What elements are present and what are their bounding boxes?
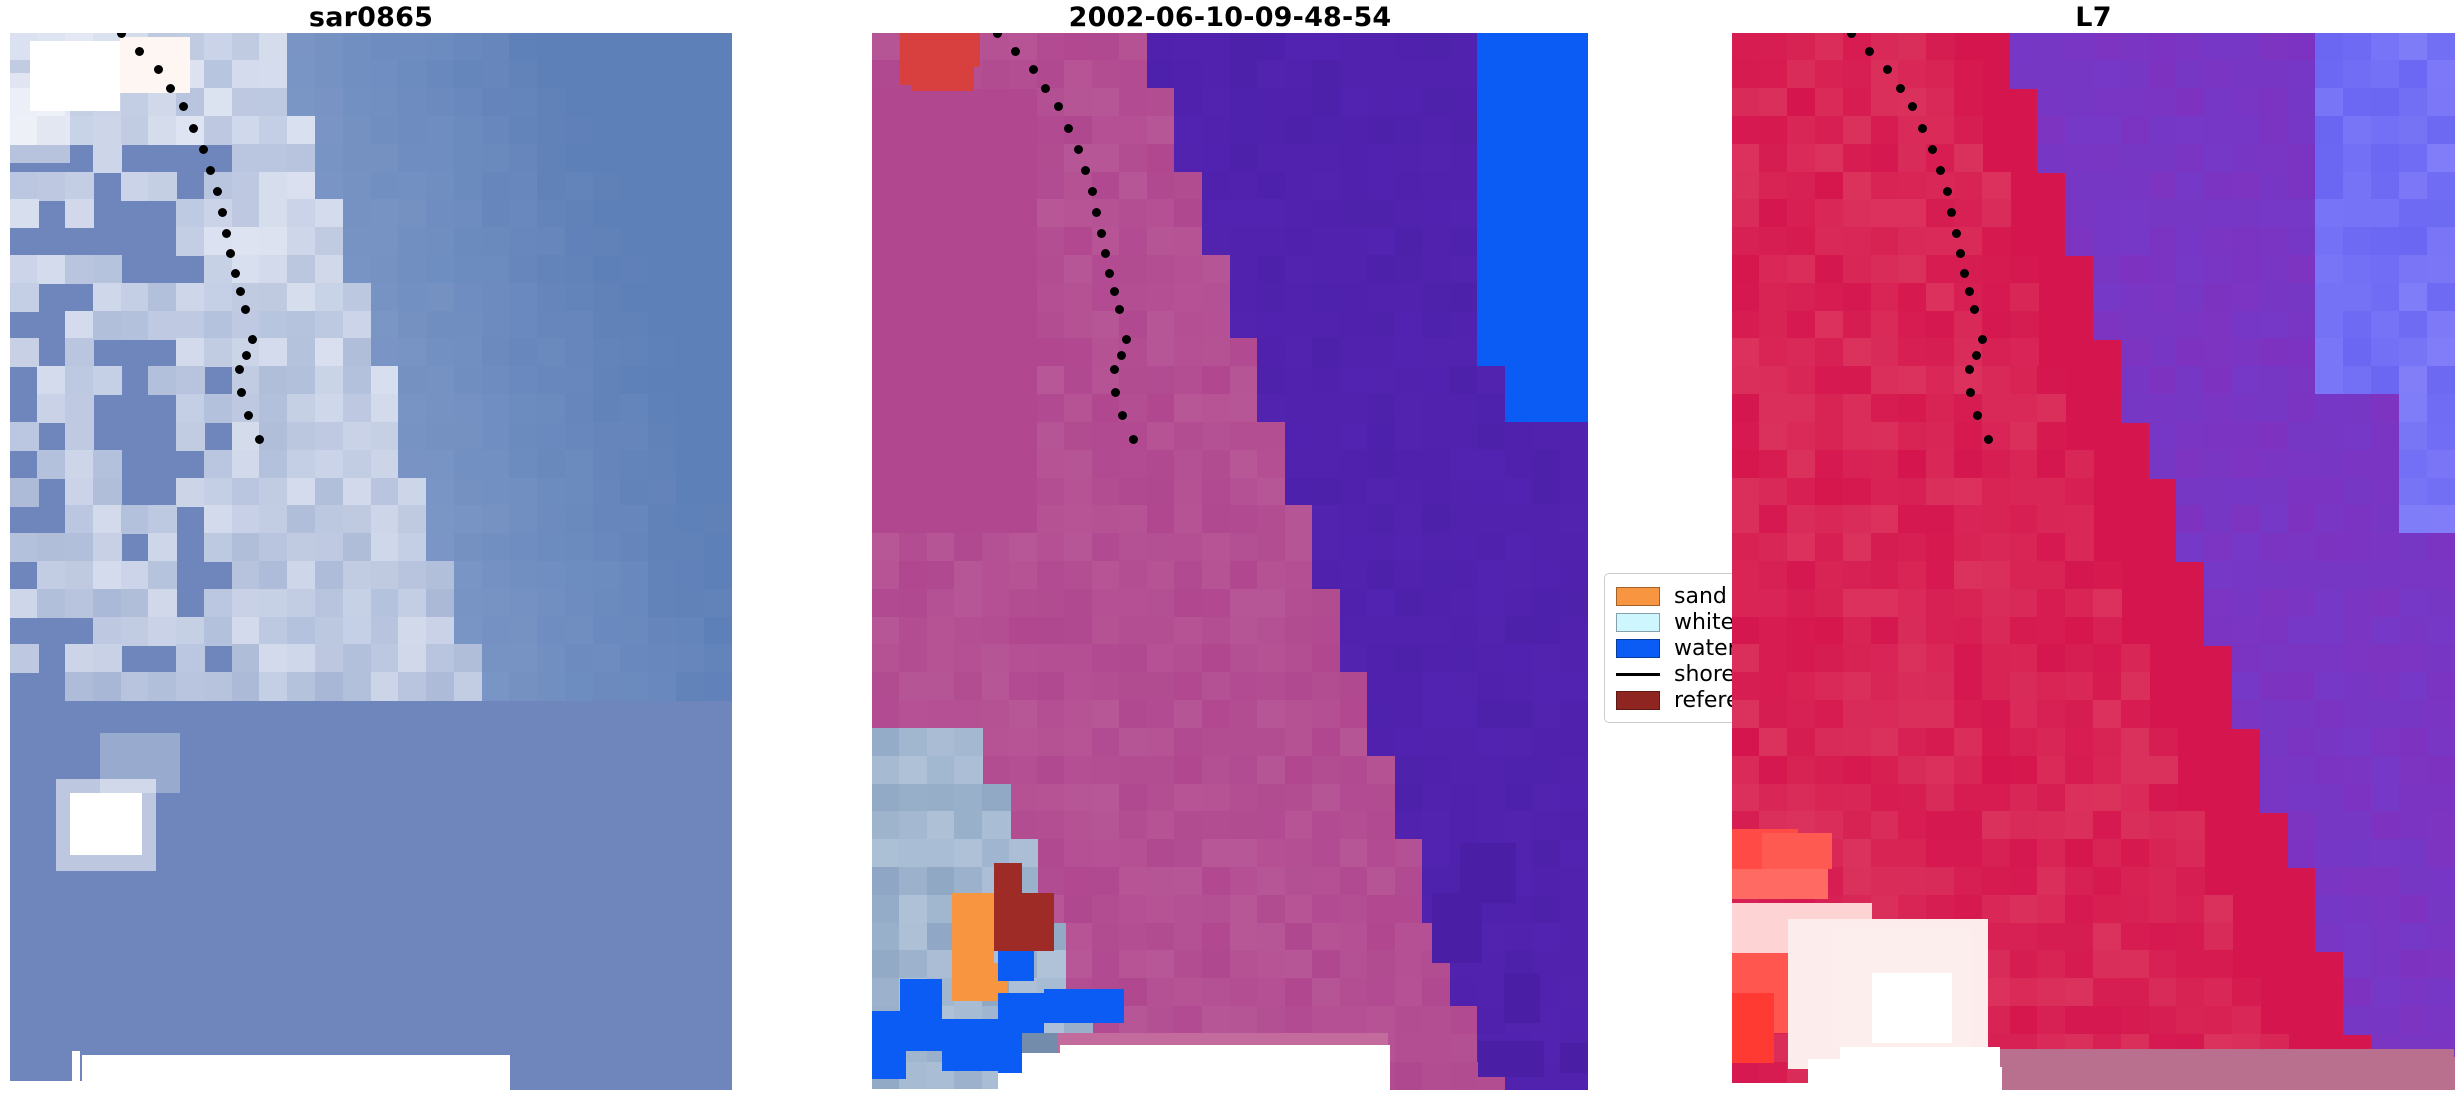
image-pixel [1119, 923, 1148, 952]
image-pixel [565, 366, 594, 395]
image-pixel [1312, 950, 1341, 979]
image-pixel [343, 88, 372, 117]
image-pixel [704, 422, 732, 451]
image-pixel [1395, 60, 1424, 89]
image-pixel [398, 978, 427, 1007]
image-pixel [2065, 450, 2094, 479]
image-pixel [37, 950, 66, 979]
image-pixel [2093, 366, 2122, 395]
image-pixel [1147, 867, 1176, 896]
image-pixel [1174, 978, 1203, 1007]
image-pixel [204, 33, 233, 62]
image-pixel [509, 60, 538, 89]
image-pixel [1787, 533, 1816, 562]
image-pixel [343, 60, 372, 89]
image-pixel [1532, 116, 1561, 145]
image-pixel [1926, 784, 1955, 813]
image-pixel [1787, 394, 1816, 423]
image-pixel [2399, 450, 2428, 479]
image-pixel [232, 450, 261, 479]
image-pixel [2260, 811, 2289, 840]
image-pixel [426, 950, 455, 979]
image-pixel [426, 644, 455, 673]
image-pixel [1815, 505, 1844, 534]
image-pixel [204, 394, 233, 423]
image-pixel [1871, 672, 1900, 701]
image-pixel [2176, 700, 2205, 729]
image-pixel [2288, 116, 2317, 145]
image-pixel [259, 366, 288, 395]
image-pixel [648, 255, 677, 284]
image-pixel [10, 422, 39, 451]
image-pixel [565, 172, 594, 201]
image-pixel [371, 617, 400, 646]
image-pixel [2288, 867, 2317, 896]
image-pixel [2121, 561, 2150, 590]
image-pixel [565, 756, 594, 785]
image-pixel [899, 422, 928, 451]
image-pixel [482, 505, 511, 534]
image-pixel [259, 116, 288, 145]
image-pixel [1312, 672, 1341, 701]
image-pixel [204, 116, 233, 145]
image-pixel [176, 978, 205, 1007]
image-pixel [2149, 450, 2178, 479]
image-pixel [232, 88, 261, 117]
image-pixel [2176, 60, 2205, 89]
image-pixel [2427, 283, 2455, 312]
image-pixel [2037, 728, 2066, 757]
image-pixel [1532, 478, 1561, 507]
image-pixel [1898, 784, 1927, 813]
image-pixel [148, 505, 177, 534]
image-pixel [454, 311, 483, 340]
image-pixel [1092, 756, 1121, 785]
image-pixel [2315, 1006, 2344, 1035]
shoreline-dot [218, 208, 227, 217]
image-pixel [2343, 923, 2372, 952]
image-pixel [1257, 589, 1286, 618]
image-pixel [2343, 33, 2372, 62]
image-pixel [426, 756, 455, 785]
image-pixel [2121, 199, 2150, 228]
image-pixel [1285, 672, 1314, 701]
image-pixel [2315, 255, 2344, 284]
image-pixel [1843, 728, 1872, 757]
image-pixel [676, 505, 705, 534]
image-pixel [315, 338, 344, 367]
image-pixel [1202, 116, 1231, 145]
image-pixel [259, 728, 288, 757]
image-pixel [1982, 33, 2011, 62]
image-pixel [65, 478, 94, 507]
image-pixel [2343, 811, 2372, 840]
image-pixel [2371, 144, 2400, 173]
image-pixel [2315, 867, 2344, 896]
image-pixel [2176, 950, 2205, 979]
image-pixel [927, 728, 956, 757]
image-pixel [2371, 478, 2400, 507]
image-pixel [1202, 561, 1231, 590]
image-pixel [1759, 700, 1788, 729]
image-pixel [2149, 867, 2178, 896]
image-pixel [398, 1006, 427, 1035]
image-pixel [93, 283, 122, 312]
image-pixel [2093, 255, 2122, 284]
image-pixel [1477, 1006, 1506, 1035]
image-pixel [1064, 505, 1093, 534]
image-pixel [371, 144, 400, 173]
image-pixel [954, 728, 983, 757]
image-pixel [1312, 617, 1341, 646]
image-pixel [1174, 672, 1203, 701]
image-pixel [1119, 450, 1148, 479]
image-pixel [1367, 144, 1396, 173]
image-pixel [1926, 478, 1955, 507]
image-pixel [2399, 227, 2428, 256]
image-pixel [315, 923, 344, 952]
image-pixel [648, 784, 677, 813]
image-pixel [2065, 756, 2094, 785]
image-pixel [2427, 478, 2455, 507]
image-pixel [1898, 811, 1927, 840]
image-pixel [1532, 505, 1561, 534]
image-pixel [1395, 88, 1424, 117]
image-pixel [899, 505, 928, 534]
image-pixel [1257, 172, 1286, 201]
image-pixel [343, 811, 372, 840]
image-pixel [2315, 366, 2344, 395]
image-pixel [148, 311, 177, 340]
image-pixel [232, 867, 261, 896]
image-pixel [2121, 839, 2150, 868]
image-pixel [2399, 923, 2428, 952]
image-pixel [1340, 88, 1369, 117]
image-pixel [872, 394, 901, 423]
image-pixel [1009, 227, 1038, 256]
image-pixel [1560, 1043, 1588, 1073]
image-pixel [1367, 227, 1396, 256]
image-pixel [1202, 394, 1231, 423]
image-pixel [982, 756, 1011, 785]
image-pixel [648, 60, 677, 89]
image-pixel [2093, 505, 2122, 534]
image-pixel [398, 644, 427, 673]
image-pixel [1450, 60, 1479, 89]
image-pixel [1505, 227, 1534, 256]
image-pixel [620, 533, 649, 562]
image-pixel [565, 644, 594, 673]
image-pixel [259, 283, 288, 312]
image-pixel [1037, 338, 1066, 367]
image-pixel [100, 733, 180, 793]
image-pixel [1119, 116, 1148, 145]
image-pixel [1395, 199, 1424, 228]
image-pixel [1340, 478, 1369, 507]
image-pixel [1230, 784, 1259, 813]
image-pixel [872, 366, 901, 395]
image-pixel [2093, 311, 2122, 340]
image-pixel [1560, 728, 1588, 757]
image-pixel [287, 394, 316, 423]
image-pixel [2427, 978, 2455, 1007]
image-pixel [2093, 700, 2122, 729]
image-pixel [927, 644, 956, 673]
image-pixel [1560, 700, 1588, 729]
image-pixel [1759, 227, 1788, 256]
image-pixel [1477, 311, 1506, 340]
image-pixel [620, 1006, 649, 1035]
image-pixel [1064, 756, 1093, 785]
image-pixel [1285, 644, 1314, 673]
image-pixel [1843, 505, 1872, 534]
image-pixel [65, 255, 94, 284]
image-pixel [482, 88, 511, 117]
image-pixel [2037, 561, 2066, 590]
image-pixel [1395, 338, 1424, 367]
image-pixel [676, 255, 705, 284]
image-pixel [1532, 366, 1561, 395]
image-pixel [1202, 88, 1231, 117]
image-pixel [1843, 88, 1872, 117]
image-pixel [1147, 366, 1176, 395]
image-pixel [704, 756, 732, 785]
image-pixel [2427, 950, 2455, 979]
image-pixel [2204, 1006, 2233, 1035]
image-pixel [1092, 867, 1121, 896]
image-pixel [1367, 867, 1396, 896]
image-pixel [1898, 505, 1927, 534]
image-pixel [1257, 923, 1286, 952]
image-pixel [1422, 422, 1451, 451]
panel-classified-image [872, 33, 1588, 1090]
image-pixel [2371, 311, 2400, 340]
image-pixel [872, 756, 901, 785]
image-pixel [2343, 366, 2372, 395]
image-pixel [121, 923, 150, 952]
image-pixel [426, 923, 455, 952]
image-pixel [1037, 478, 1066, 507]
image-pixel [2315, 617, 2344, 646]
image-pixel [2010, 700, 2039, 729]
image-pixel [704, 227, 732, 256]
image-pixel [982, 311, 1011, 340]
image-pixel [1257, 366, 1286, 395]
image-pixel [2176, 116, 2205, 145]
image-pixel [2010, 33, 2039, 62]
image-pixel [994, 863, 1022, 893]
image-pixel [899, 478, 928, 507]
image-pixel [2176, 478, 2205, 507]
image-pixel [899, 338, 928, 367]
image-pixel [2371, 644, 2400, 673]
image-pixel [2260, 227, 2289, 256]
image-pixel [1174, 867, 1203, 896]
image-pixel [1147, 338, 1176, 367]
image-pixel [1367, 923, 1396, 952]
image-pixel [2204, 116, 2233, 145]
image-pixel [1257, 700, 1286, 729]
image-pixel [343, 1006, 372, 1035]
image-pixel [565, 227, 594, 256]
image-pixel [648, 366, 677, 395]
image-pixel [398, 394, 427, 423]
image-pixel [121, 867, 150, 896]
image-pixel [1064, 561, 1093, 590]
image-pixel [93, 172, 122, 201]
image-pixel [954, 756, 983, 785]
image-pixel [2149, 227, 2178, 256]
image-pixel [509, 978, 538, 1007]
image-pixel [1340, 144, 1369, 173]
image-pixel [899, 811, 928, 840]
image-pixel [2093, 923, 2122, 952]
image-pixel [676, 923, 705, 952]
image-pixel [1064, 227, 1093, 256]
image-pixel [2037, 116, 2066, 145]
image-pixel [1843, 283, 1872, 312]
image-pixel [454, 422, 483, 451]
image-pixel [1119, 227, 1148, 256]
image-pixel [1009, 561, 1038, 590]
image-pixel [1815, 394, 1844, 423]
shoreline-dot [1064, 124, 1073, 133]
image-pixel [1732, 784, 1761, 813]
image-pixel [287, 1006, 316, 1035]
image-pixel [2399, 478, 2428, 507]
image-pixel [1926, 561, 1955, 590]
image-pixel [954, 199, 983, 228]
image-pixel [2399, 505, 2428, 534]
image-pixel [1367, 839, 1396, 868]
image-pixel [1450, 227, 1479, 256]
image-pixel [2343, 227, 2372, 256]
image-pixel [1477, 450, 1506, 479]
image-pixel [1759, 33, 1788, 62]
image-pixel [1954, 88, 1983, 117]
image-pixel [537, 505, 566, 534]
image-pixel [1560, 450, 1588, 479]
image-pixel [872, 1089, 1062, 1090]
image-pixel [371, 950, 400, 979]
image-pixel [371, 88, 400, 117]
image-pixel [1147, 561, 1176, 590]
image-pixel [2315, 199, 2344, 228]
image-pixel [65, 199, 94, 228]
image-pixel [2121, 811, 2150, 840]
image-pixel [287, 700, 316, 729]
image-pixel [1871, 450, 1900, 479]
image-pixel [343, 728, 372, 757]
image-pixel [2343, 867, 2372, 896]
image-pixel [426, 88, 455, 117]
shoreline-dot [235, 365, 244, 374]
image-pixel [1982, 561, 2011, 590]
image-pixel [1367, 589, 1396, 618]
image-pixel [398, 199, 427, 228]
image-pixel [204, 478, 233, 507]
image-pixel [371, 450, 400, 479]
image-pixel [704, 811, 732, 840]
image-pixel [2288, 728, 2317, 757]
image-pixel [287, 811, 316, 840]
image-pixel [2232, 422, 2261, 451]
image-pixel [1092, 700, 1121, 729]
image-pixel [1312, 700, 1341, 729]
image-pixel [2149, 617, 2178, 646]
image-pixel [1174, 116, 1203, 145]
image-pixel [1450, 422, 1479, 451]
image-pixel [398, 88, 427, 117]
image-pixel [65, 394, 94, 423]
image-pixel [2121, 978, 2150, 1007]
image-pixel [1477, 505, 1506, 534]
image-pixel [872, 1051, 906, 1079]
image-pixel [704, 88, 732, 117]
image-pixel [148, 283, 177, 312]
image-pixel [565, 895, 594, 924]
image-pixel [620, 450, 649, 479]
image-pixel [954, 644, 983, 673]
image-pixel [1560, 617, 1588, 646]
image-pixel [1395, 311, 1424, 340]
image-pixel [1119, 728, 1148, 757]
image-pixel [148, 338, 177, 367]
image-pixel [2149, 923, 2178, 952]
image-pixel [1871, 394, 1900, 423]
image-pixel [2288, 172, 2317, 201]
image-pixel [1395, 867, 1424, 896]
image-pixel [1037, 422, 1066, 451]
image-pixel [2371, 505, 2400, 534]
image-pixel [1230, 338, 1259, 367]
image-pixel [1037, 784, 1066, 813]
image-pixel [1815, 144, 1844, 173]
image-pixel [1340, 60, 1369, 89]
image-pixel [176, 199, 205, 228]
image-pixel [454, 505, 483, 534]
image-pixel [593, 505, 622, 534]
image-pixel [1477, 478, 1506, 507]
image-pixel [1147, 116, 1176, 145]
image-pixel [1422, 311, 1451, 340]
image-pixel [2260, 978, 2289, 1007]
image-pixel [232, 116, 261, 145]
image-pixel [1505, 784, 1534, 813]
image-pixel [1174, 144, 1203, 173]
image-pixel [176, 923, 205, 952]
image-pixel [1202, 450, 1231, 479]
image-pixel [148, 561, 177, 590]
image-pixel [1202, 756, 1231, 785]
panel-title-1: sar0865 [10, 2, 732, 33]
image-pixel [204, 950, 233, 979]
image-pixel [1477, 728, 1506, 757]
image-pixel [2232, 1006, 2261, 1035]
image-pixel [2121, 728, 2150, 757]
image-pixel [232, 561, 261, 590]
image-pixel [620, 811, 649, 840]
image-pixel [2010, 978, 2039, 1007]
image-pixel [872, 700, 901, 729]
image-pixel [2232, 700, 2261, 729]
image-pixel [620, 672, 649, 701]
image-pixel [1092, 895, 1121, 924]
image-pixel [872, 505, 901, 534]
panel-l7-image [1732, 33, 2455, 1090]
image-pixel [1926, 60, 1955, 89]
image-pixel [259, 839, 288, 868]
